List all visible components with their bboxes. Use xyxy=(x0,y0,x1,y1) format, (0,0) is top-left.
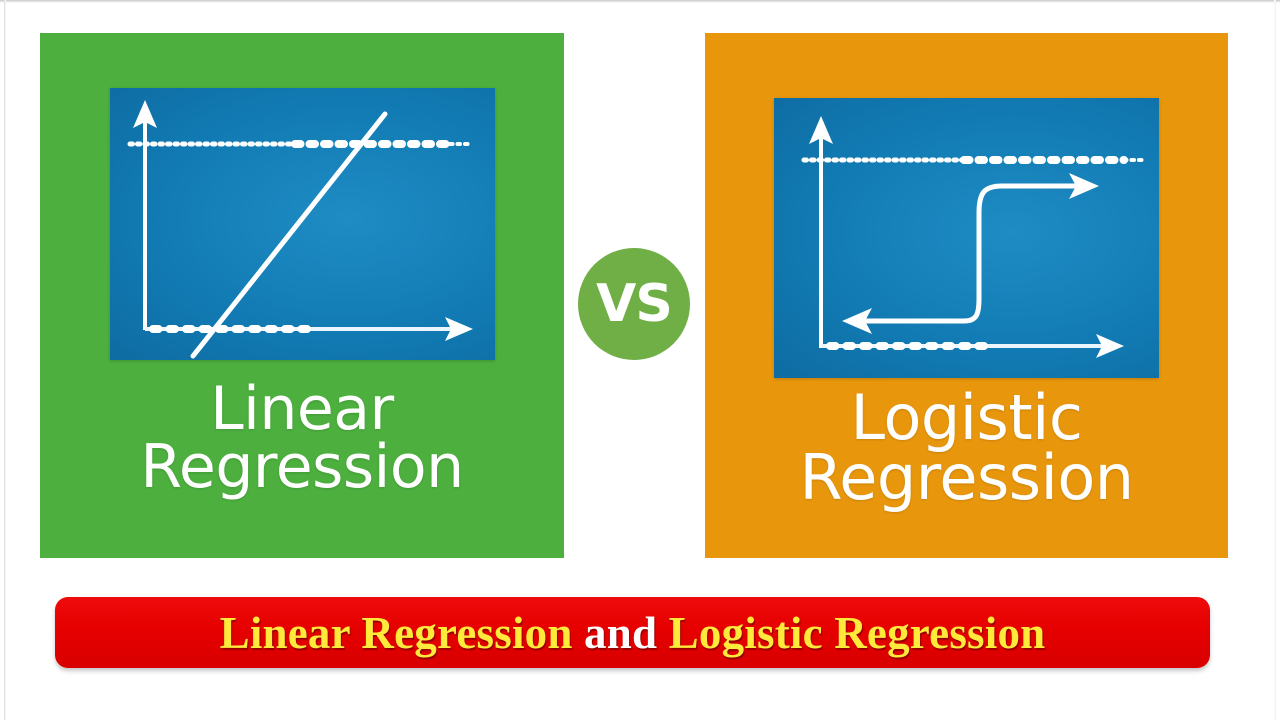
banner-part-and: and xyxy=(573,608,669,658)
caption-line-2: Regression xyxy=(140,438,463,496)
page-top-edge xyxy=(0,0,1280,3)
linear-regression-chart xyxy=(110,88,495,360)
linear-regression-panel[interactable]: Linear Regression xyxy=(40,33,564,558)
vs-badge: VS xyxy=(578,248,690,360)
page-left-edge xyxy=(4,0,6,720)
logistic-regression-chart xyxy=(774,98,1159,378)
banner-part-logistic: Logistic Regression xyxy=(669,608,1046,658)
y-axis-icon xyxy=(809,116,833,348)
caption-line-2: Regression xyxy=(799,448,1133,508)
logistic-regression-panel[interactable]: Logistic Regression xyxy=(705,33,1228,558)
logistic-regression-caption: Logistic Regression xyxy=(799,388,1133,508)
title-banner: Linear Regression and Logistic Regressio… xyxy=(55,597,1210,668)
linear-regression-caption: Linear Regression xyxy=(140,380,463,496)
y-axis-icon xyxy=(133,100,157,330)
banner-part-linear: Linear Regression xyxy=(220,608,573,658)
caption-line-1: Logistic xyxy=(799,388,1133,448)
title-banner-text: Linear Regression and Logistic Regressio… xyxy=(220,607,1046,659)
caption-line-1: Linear xyxy=(140,380,463,438)
page-right-edge xyxy=(1274,0,1276,720)
sigmoid-curve-icon xyxy=(842,173,1099,334)
regression-line-icon xyxy=(193,114,385,356)
